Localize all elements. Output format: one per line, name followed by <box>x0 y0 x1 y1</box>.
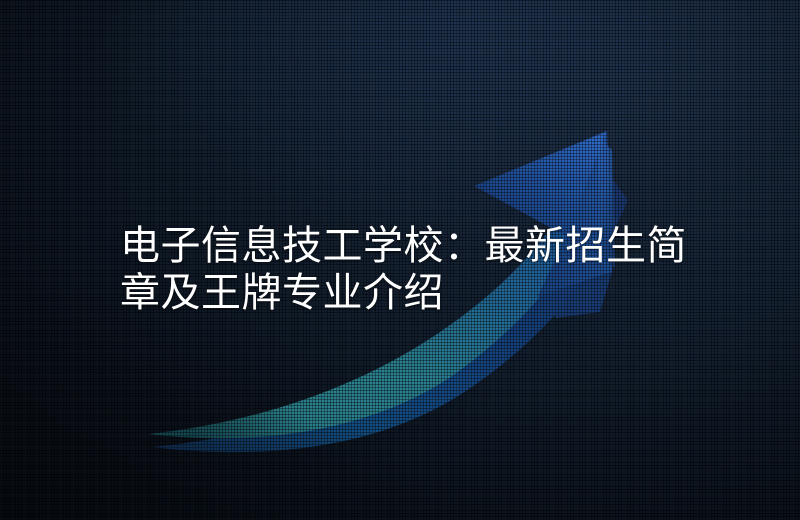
promo-banner: 电子信息技工学校：最新招生简章及王牌专业介绍 <box>0 0 800 520</box>
banner-headline: 电子信息技工学校：最新招生简章及王牌专业介绍 <box>120 223 706 317</box>
